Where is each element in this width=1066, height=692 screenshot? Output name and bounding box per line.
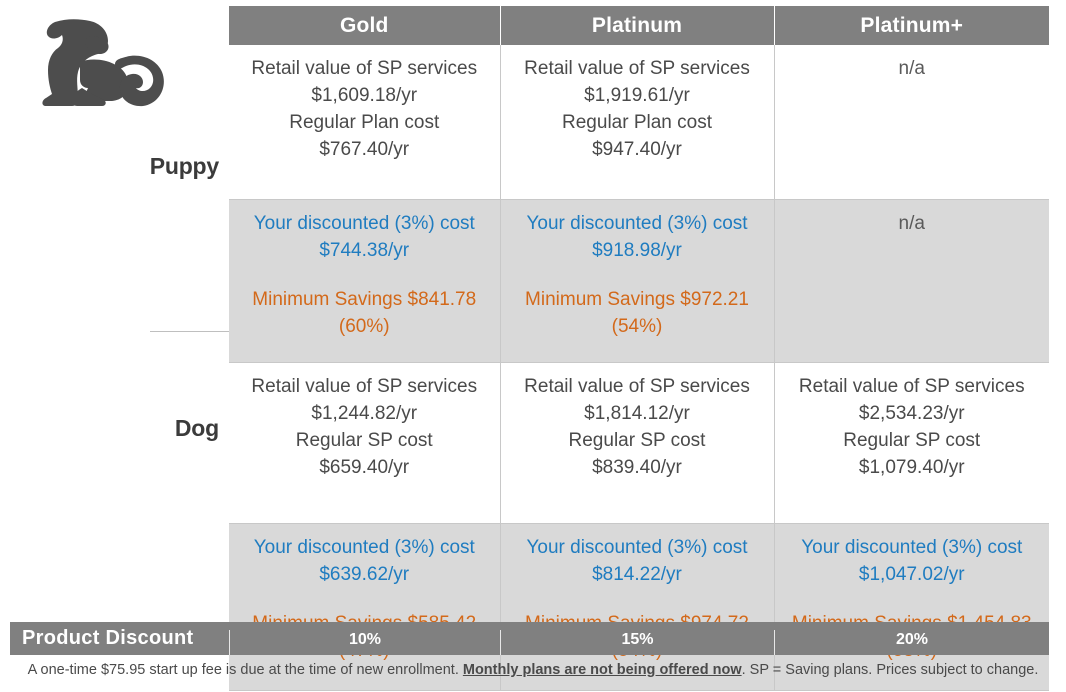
plan-comparison-table: Gold Platinum Platinum+ Retail value of … <box>229 6 1049 691</box>
regular-label: Regular Plan cost <box>289 112 439 133</box>
cell-dog-gold-retail: Retail value of SP services $1,244.82/yr… <box>229 363 500 524</box>
retail-label: Retail value of SP services <box>799 376 1025 397</box>
table-row-puppy-retail: Retail value of SP services $1,609.18/yr… <box>229 45 1049 200</box>
minimum-savings-percent: (54%) <box>507 313 768 340</box>
row-group-divider <box>150 331 229 332</box>
cell-puppy-platinum-plus-retail: n/a <box>774 45 1049 200</box>
regular-value: $659.40/yr <box>319 457 409 478</box>
column-header-gold[interactable]: Gold <box>229 6 500 45</box>
minimum-savings-label: Minimum Savings $841.78 <box>235 286 494 313</box>
footnote-emphasis: Monthly plans are not being offered now <box>463 662 742 678</box>
column-header-platinum[interactable]: Platinum <box>500 6 774 45</box>
footnote-part2: . SP = Saving plans. Prices subject to c… <box>742 662 1039 678</box>
product-discount-platinum-plus: 20% <box>774 630 1049 655</box>
cell-puppy-gold-discount: Your discounted (3%) cost $744.38/yr Min… <box>229 200 500 363</box>
discounted-cost-label: Your discounted (3%) cost <box>254 537 475 558</box>
table-row-dog-retail: Retail value of SP services $1,244.82/yr… <box>229 363 1049 524</box>
footnote: A one-time $75.95 start up fee is due at… <box>0 662 1066 678</box>
regular-label: Regular Plan cost <box>562 112 712 133</box>
product-discount-platinum: 15% <box>500 630 774 655</box>
regular-value: $767.40/yr <box>319 139 409 160</box>
discounted-cost-label: Your discounted (3%) cost <box>254 213 475 234</box>
brand-column: Puppy Dog <box>0 0 229 622</box>
regular-value: $839.40/yr <box>592 457 682 478</box>
pricing-comparison-sheet: Puppy Dog Gold Platinum Platinum+ Retail… <box>0 0 1066 692</box>
discounted-cost-value: $918.98/yr <box>592 240 682 261</box>
regular-label: Regular SP cost <box>843 430 980 451</box>
retail-label: Retail value of SP services <box>251 376 477 397</box>
cell-puppy-platinum-plus-discount: n/a <box>774 200 1049 363</box>
not-available-text: n/a <box>899 213 925 234</box>
footnote-part1: A one-time $75.95 start up fee is due at… <box>28 662 463 678</box>
retail-label: Retail value of SP services <box>524 58 750 79</box>
not-available-text: n/a <box>899 58 925 79</box>
regular-value: $947.40/yr <box>592 139 682 160</box>
discounted-cost-value: $1,047.02/yr <box>859 564 965 585</box>
discounted-cost-value: $639.62/yr <box>319 564 409 585</box>
retail-label: Retail value of SP services <box>524 376 750 397</box>
retail-label: Retail value of SP services <box>251 58 477 79</box>
row-label-dog: Dog <box>175 415 219 442</box>
table-header-row: Gold Platinum Platinum+ <box>229 6 1049 45</box>
cell-puppy-platinum-retail: Retail value of SP services $1,919.61/yr… <box>500 45 774 200</box>
product-discount-gold: 10% <box>229 630 500 655</box>
regular-value: $1,079.40/yr <box>859 457 965 478</box>
product-discount-bar: Product Discount 10% 15% 20% <box>10 622 1049 655</box>
regular-label: Regular SP cost <box>296 430 433 451</box>
dog-silhouette-icon <box>28 14 178 124</box>
retail-value: $1,244.82/yr <box>311 403 417 424</box>
retail-value: $1,609.18/yr <box>311 85 417 106</box>
product-discount-label: Product Discount <box>22 627 193 650</box>
regular-label: Regular SP cost <box>569 430 706 451</box>
cell-puppy-platinum-discount: Your discounted (3%) cost $918.98/yr Min… <box>500 200 774 363</box>
retail-value: $1,814.12/yr <box>584 403 690 424</box>
cell-dog-platinum-plus-retail: Retail value of SP services $2,534.23/yr… <box>774 363 1049 524</box>
discounted-cost-label: Your discounted (3%) cost <box>801 537 1022 558</box>
column-header-platinum-plus[interactable]: Platinum+ <box>774 6 1049 45</box>
discounted-cost-value: $744.38/yr <box>319 240 409 261</box>
discounted-cost-label: Your discounted (3%) cost <box>526 213 747 234</box>
minimum-savings-label: Minimum Savings $972.21 <box>507 286 768 313</box>
row-label-puppy: Puppy <box>150 153 219 180</box>
table-row-puppy-discount: Your discounted (3%) cost $744.38/yr Min… <box>229 200 1049 363</box>
cell-dog-platinum-retail: Retail value of SP services $1,814.12/yr… <box>500 363 774 524</box>
discounted-cost-label: Your discounted (3%) cost <box>526 537 747 558</box>
retail-value: $1,919.61/yr <box>584 85 690 106</box>
retail-value: $2,534.23/yr <box>859 403 965 424</box>
discounted-cost-value: $814.22/yr <box>592 564 682 585</box>
minimum-savings-percent: (60%) <box>235 313 494 340</box>
cell-puppy-gold-retail: Retail value of SP services $1,609.18/yr… <box>229 45 500 200</box>
